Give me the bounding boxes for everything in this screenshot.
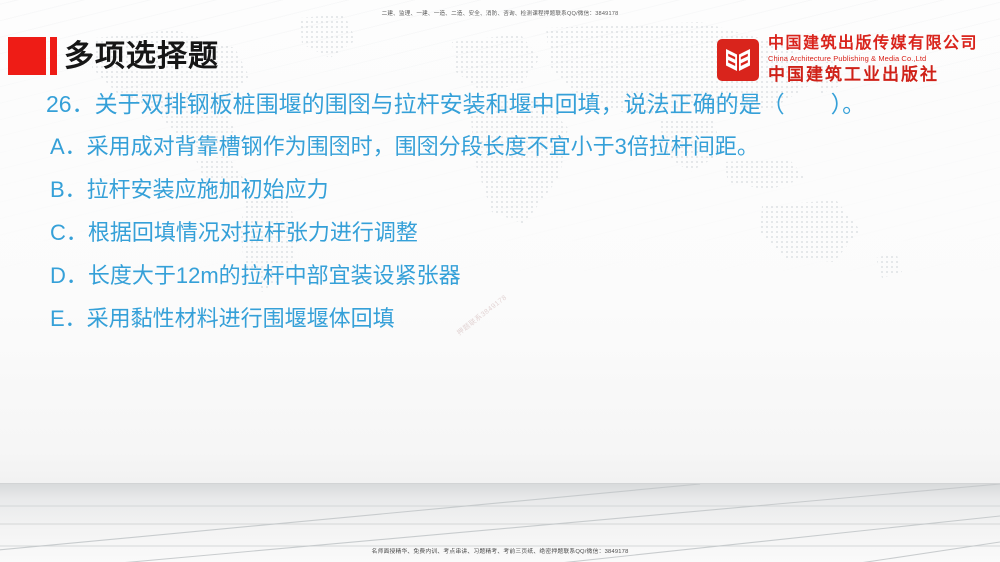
header-accent-block (8, 37, 46, 75)
page-title: 多项选择题 (64, 38, 219, 76)
option-b[interactable]: B．拉杆安装应施加初始应力 (46, 179, 976, 201)
bottom-promo-banner: 名师面授精华、免费内训、考点串讲、习题精考、考前三页纸、绝密押题联系QQ/微信：… (0, 546, 1000, 555)
logo-press-cn: 中国建筑工业出版社 (768, 67, 978, 84)
header-accent-bar (50, 37, 57, 75)
option-a[interactable]: A．采用成对背靠槽钢作为围囹时，围囹分段长度不宜小于3倍拉杆间距。 (46, 136, 976, 158)
slide-canvas: 二建、监理、一建、一造、二造、安全、消防、咨询、检测课程押题联系QQ/微信：38… (0, 0, 1000, 562)
option-d[interactable]: D．长度大于12m的拉杆中部宜装设紧张器 (46, 265, 976, 287)
publisher-logo: 中国建筑出版传媒有限公司 China Architecture Publishi… (717, 36, 978, 84)
question-block: 26．关于双排钢板桩围堰的围囹与拉杆安装和堰中回填，说法正确的是（ ）。 A．采… (46, 93, 976, 351)
open-book-icon (717, 39, 759, 81)
logo-company-cn: 中国建筑出版传媒有限公司 (768, 36, 978, 52)
option-e[interactable]: E．采用黏性材料进行围堰堰体回填 (46, 308, 976, 330)
logo-text-group: 中国建筑出版传媒有限公司 China Architecture Publishi… (768, 36, 978, 84)
question-stem: 26．关于双排钢板桩围堰的围囹与拉杆安装和堰中回填，说法正确的是（ ）。 (46, 93, 976, 116)
top-promo-banner: 二建、监理、一建、一造、二造、安全、消防、咨询、检测课程押题联系QQ/微信：38… (0, 9, 1000, 17)
logo-company-en: China Architecture Publishing & Media Co… (768, 55, 978, 63)
option-c[interactable]: C．根据回填情况对拉杆张力进行调整 (46, 222, 976, 244)
